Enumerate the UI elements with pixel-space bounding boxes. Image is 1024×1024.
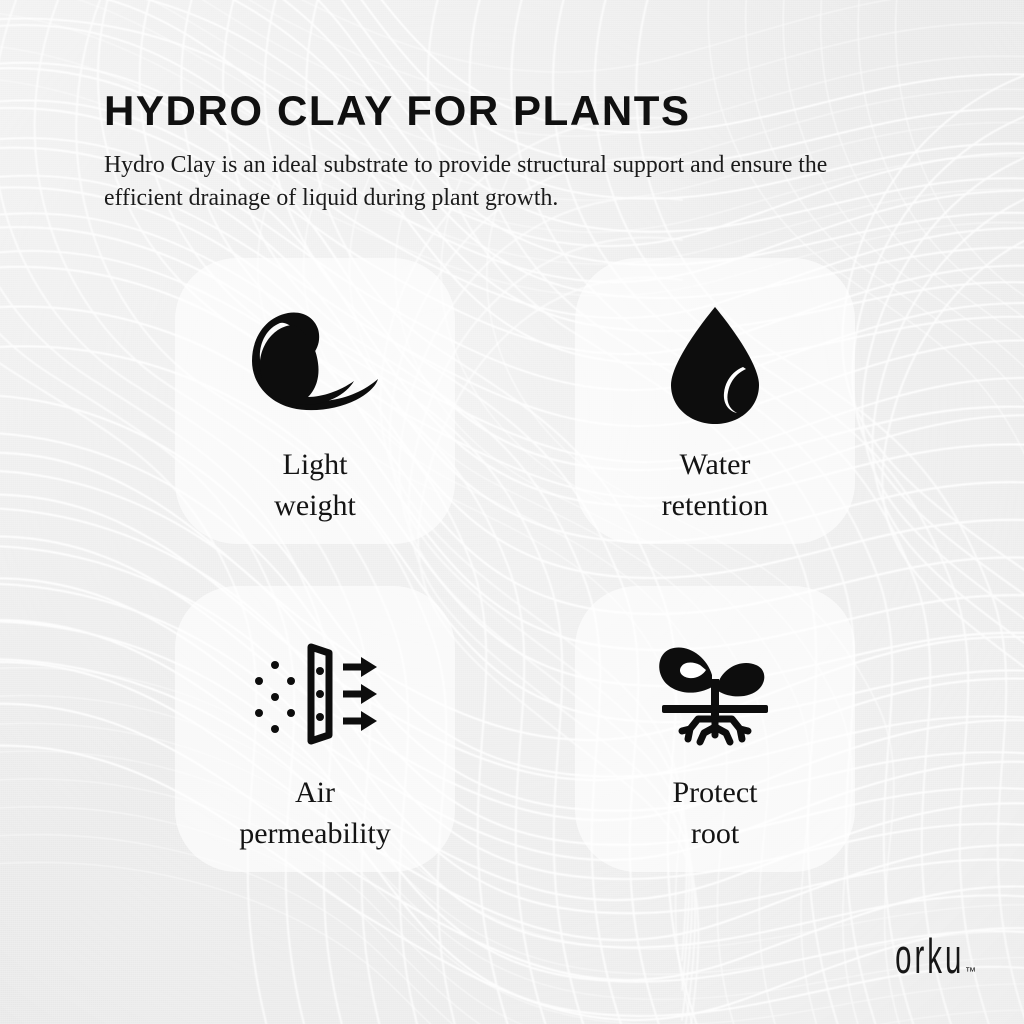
feature-card-label: Protect root	[673, 772, 758, 854]
feature-card-grid: Light weight Water retention	[175, 258, 855, 872]
feature-card-air-permeability[interactable]: Air permeability	[175, 586, 455, 872]
membrane-panel	[311, 647, 329, 741]
particle-dots	[255, 661, 295, 733]
feather-icon	[250, 306, 380, 426]
feature-card-label: Water retention	[662, 444, 769, 526]
page-title: HYDRO CLAY FOR PLANTS	[104, 88, 934, 134]
page-subtitle: Hydro Clay is an ideal substrate to prov…	[104, 148, 890, 214]
feature-card-light-weight[interactable]: Light weight	[175, 258, 455, 544]
header-block: HYDRO CLAY FOR PLANTS Hydro Clay is an i…	[104, 88, 934, 214]
sprout-root-icon	[656, 634, 774, 754]
feature-card-label: Light weight	[274, 444, 356, 526]
brand-logo[interactable]: orku ™	[849, 933, 976, 982]
trademark-symbol: ™	[965, 967, 976, 978]
feature-card-protect-root[interactable]: Protect root	[575, 586, 855, 872]
feature-card-label: Air permeability	[239, 772, 391, 854]
water-drop-icon	[667, 306, 763, 426]
infographic-canvas: HYDRO CLAY FOR PLANTS Hydro Clay is an i…	[0, 0, 1024, 1024]
air-flow-membrane-icon	[253, 634, 377, 754]
feature-card-water-retention[interactable]: Water retention	[575, 258, 855, 544]
logo-wordmark: orku	[895, 933, 964, 982]
